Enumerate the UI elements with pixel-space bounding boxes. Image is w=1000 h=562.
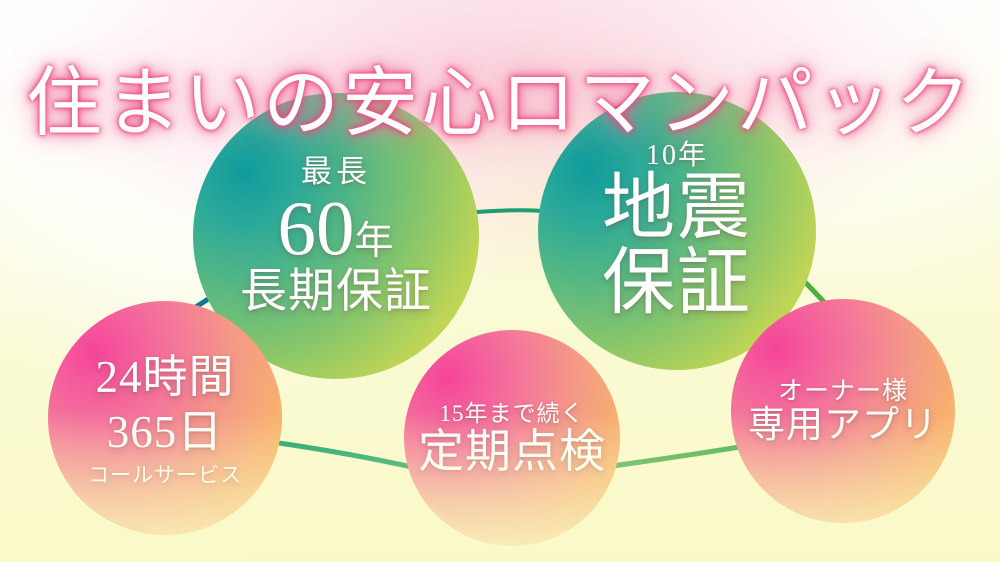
bubble-call-line1: 24時間: [95, 350, 234, 405]
bubble-warranty-foot: 長期保証: [240, 269, 432, 316]
bubble-warranty-number: 60: [277, 185, 354, 271]
bubble-warranty-main: 60年: [277, 190, 394, 267]
bubble-app-sub: オーナー様: [778, 379, 908, 404]
infographic-canvas: 最長 60年 長期保証 10年 地震 保証 24時間 365日 コールサービス …: [0, 0, 1000, 562]
background-bottom-fade: [0, 412, 1000, 562]
bubble-warranty-sub: 最長: [301, 156, 371, 187]
bubble-warranty-unit: 年: [354, 220, 394, 263]
bubble-earthquake-line1: 地震: [602, 171, 752, 245]
bubble-earthquake-line2: 保証: [602, 246, 752, 320]
page-title: 住まいの安心ロマンパック: [0, 65, 1000, 145]
bubble-earthquake-sub: 10年: [646, 142, 708, 170]
